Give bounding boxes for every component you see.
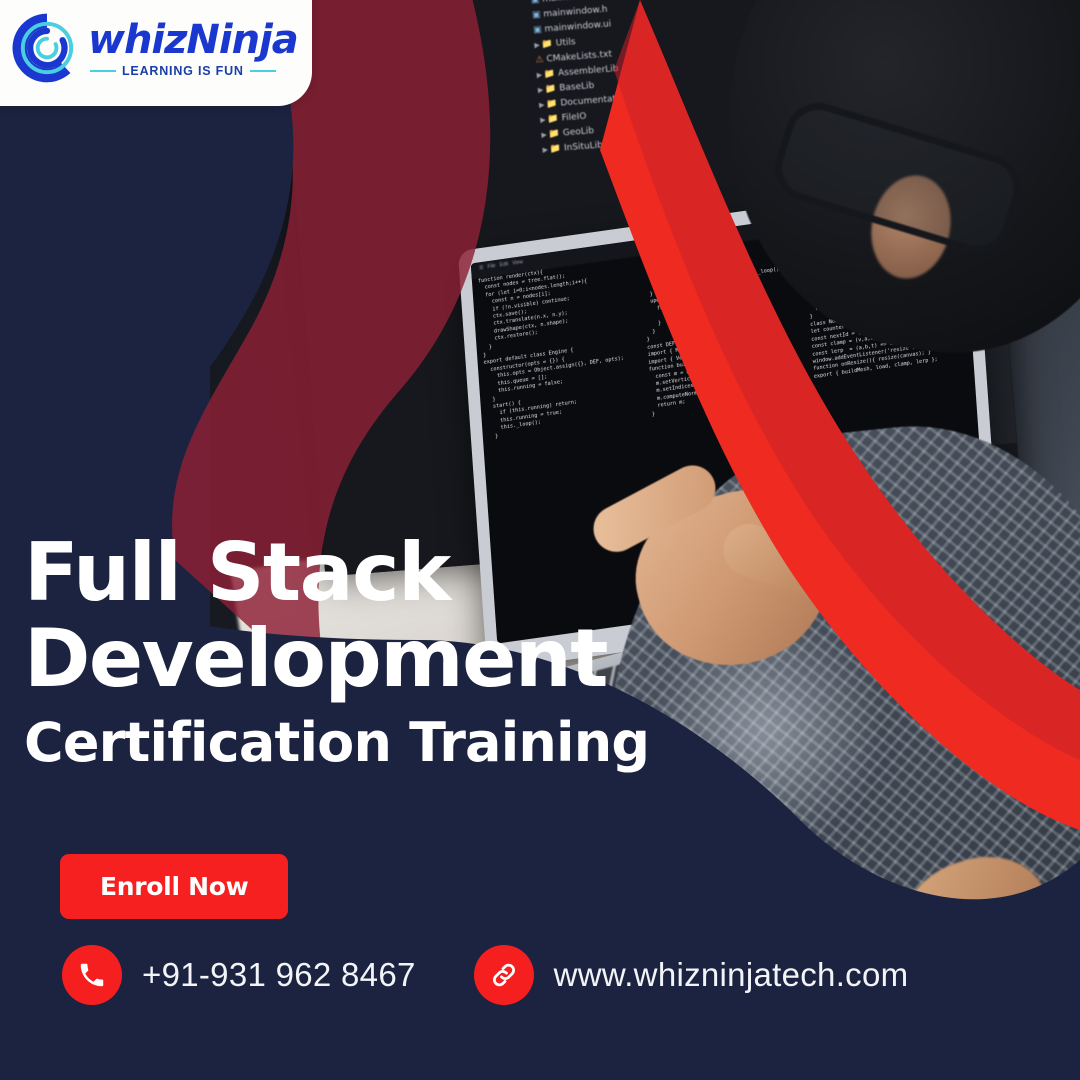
logo-text-block: whizNinja LEARNING IS FUN (88, 20, 298, 78)
headline-subline: Certification Training (24, 708, 664, 778)
link-icon (474, 945, 534, 1005)
phone-number: +91-931 962 8467 (142, 956, 416, 994)
poster-canvas: ⚠ DataExplorer.cmake ▣ exe-icon.rc ▣ mai… (0, 0, 1080, 1080)
contact-row: +91-931 962 8467 www.whizninjatech.com (62, 945, 908, 1005)
logo-badge[interactable]: whizNinja LEARNING IS FUN (0, 0, 312, 106)
phone-icon (62, 945, 122, 1005)
enroll-now-button[interactable]: Enroll Now (60, 854, 288, 919)
headline-line-1: Full Stack (24, 530, 664, 616)
logo-tagline: LEARNING IS FUN (122, 64, 244, 78)
headline-block: Full Stack Development Certification Tra… (24, 530, 664, 778)
tagline-dash-left (90, 70, 116, 72)
tagline-dash-right (250, 70, 276, 72)
headline-line-2: Development (24, 616, 664, 702)
website-url: www.whizninjatech.com (554, 956, 909, 994)
spiral-circle-logo-icon (8, 9, 86, 87)
logo-wordmark: whizNinja (88, 20, 298, 60)
contact-phone[interactable]: +91-931 962 8467 (62, 945, 416, 1005)
logo-tagline-row: LEARNING IS FUN (88, 64, 298, 78)
contact-website[interactable]: www.whizninjatech.com (474, 945, 909, 1005)
